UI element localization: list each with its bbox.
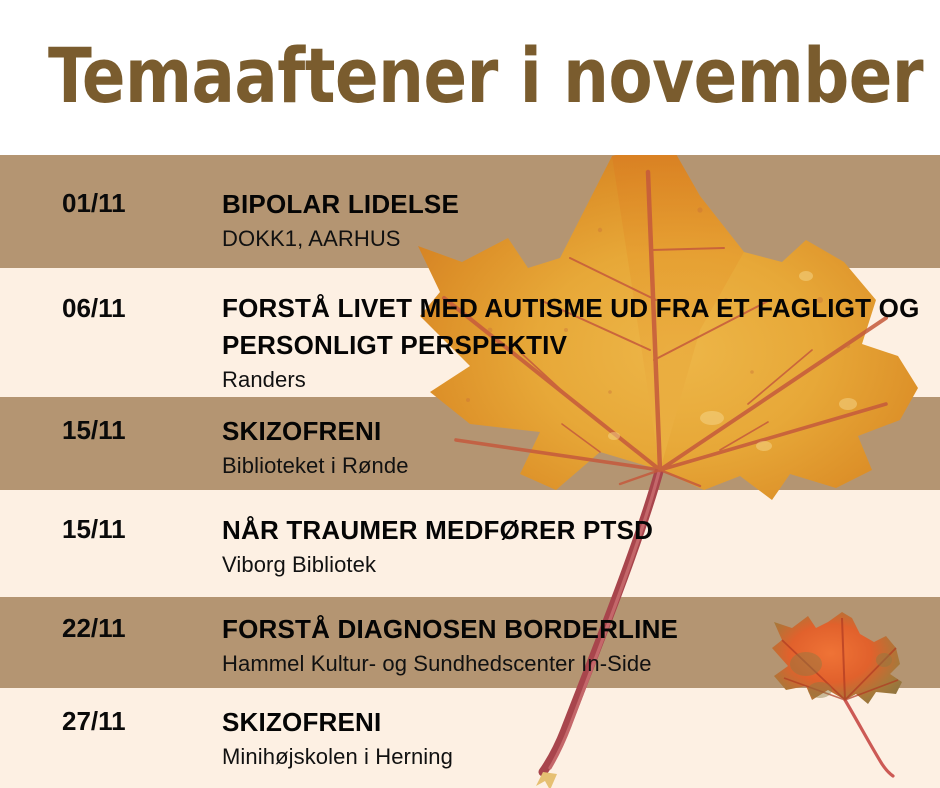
schedule-row[interactable]: 27/11 SKIZOFRENI Minihøjskolen i Herning bbox=[0, 688, 940, 788]
event-title: BIPOLAR LIDELSE bbox=[222, 186, 932, 223]
event-body: SKIZOFRENI Minihøjskolen i Herning bbox=[222, 704, 932, 772]
poster-header: Temaaftener i november bbox=[0, 0, 940, 155]
event-venue: Hammel Kultur- og Sundhedscenter In-Side bbox=[222, 649, 932, 679]
event-title: SKIZOFRENI bbox=[222, 704, 932, 741]
event-venue: Randers bbox=[222, 365, 932, 395]
event-date: 22/11 bbox=[62, 613, 212, 644]
event-title: NÅR TRAUMER MEDFØRER PTSD bbox=[222, 512, 932, 549]
schedule-row[interactable]: 15/11 NÅR TRAUMER MEDFØRER PTSD Viborg B… bbox=[0, 490, 940, 597]
page-title: Temaaftener i november bbox=[48, 24, 923, 128]
event-date: 15/11 bbox=[62, 514, 212, 545]
event-body: FORSTÅ DIAGNOSEN BORDERLINE Hammel Kultu… bbox=[222, 611, 932, 679]
event-venue: Viborg Bibliotek bbox=[222, 550, 932, 580]
event-body: NÅR TRAUMER MEDFØRER PTSD Viborg Bibliot… bbox=[222, 512, 932, 580]
event-title: FORSTÅ DIAGNOSEN BORDERLINE bbox=[222, 611, 932, 648]
event-date: 15/11 bbox=[62, 415, 212, 446]
schedule-row[interactable]: 15/11 SKIZOFRENI Biblioteket i Rønde bbox=[0, 397, 940, 490]
schedule-row[interactable]: 01/11 BIPOLAR LIDELSE DOKK1, AARHUS bbox=[0, 155, 940, 268]
event-date: 06/11 bbox=[62, 293, 212, 324]
event-title: FORSTÅ LIVET MED AUTISME UD FRA ET FAGLI… bbox=[222, 290, 932, 364]
event-date: 01/11 bbox=[62, 188, 212, 219]
event-title: SKIZOFRENI bbox=[222, 413, 932, 450]
event-date: 27/11 bbox=[62, 706, 212, 737]
poster-canvas: Temaaftener i november 01/11 BIPOLAR LID… bbox=[0, 0, 940, 788]
event-venue: Minihøjskolen i Herning bbox=[222, 742, 932, 772]
schedule-row[interactable]: 06/11 FORSTÅ LIVET MED AUTISME UD FRA ET… bbox=[0, 268, 940, 397]
event-body: SKIZOFRENI Biblioteket i Rønde bbox=[222, 413, 932, 481]
event-body: BIPOLAR LIDELSE DOKK1, AARHUS bbox=[222, 186, 932, 254]
event-venue: DOKK1, AARHUS bbox=[222, 224, 932, 254]
event-body: FORSTÅ LIVET MED AUTISME UD FRA ET FAGLI… bbox=[222, 290, 932, 395]
event-venue: Biblioteket i Rønde bbox=[222, 451, 932, 481]
schedule-row[interactable]: 22/11 FORSTÅ DIAGNOSEN BORDERLINE Hammel… bbox=[0, 597, 940, 688]
